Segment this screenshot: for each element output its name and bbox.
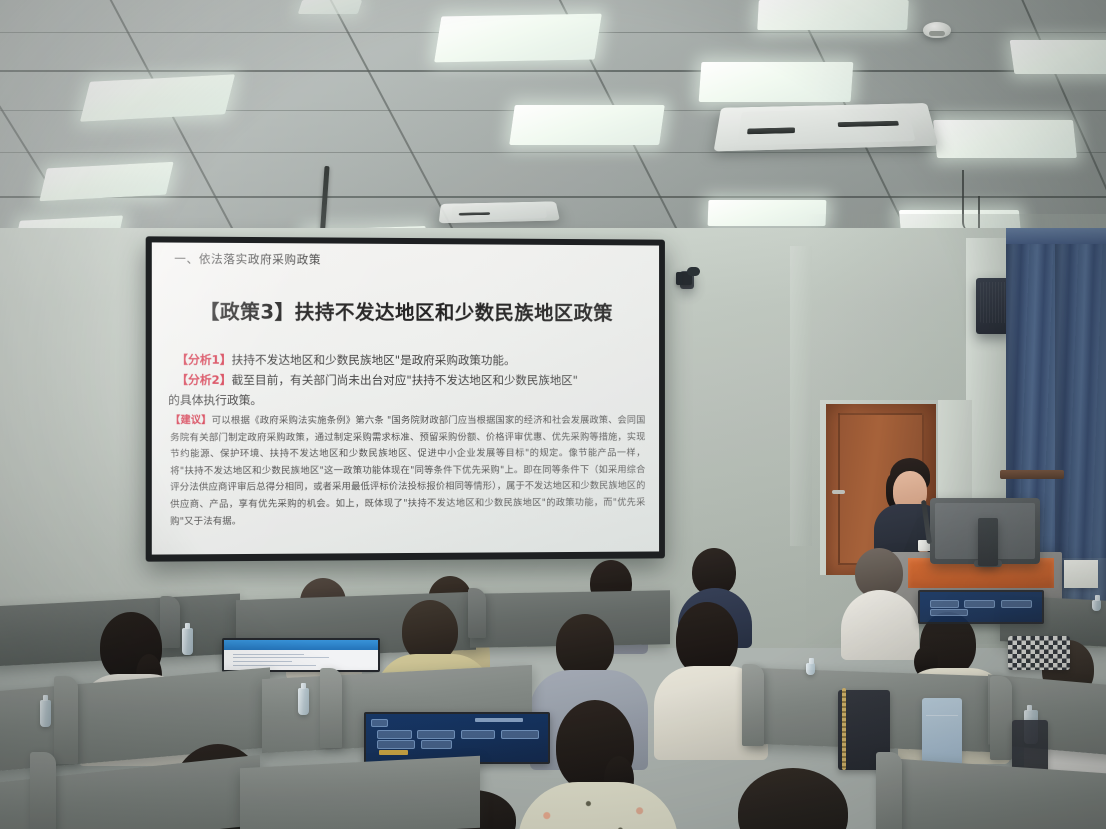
attendee-torso <box>518 782 678 829</box>
slide-kicker: 一、依法落实政府采购政策 <box>174 251 321 268</box>
window-title-bar <box>224 640 378 650</box>
desk-partition <box>742 664 764 746</box>
lectern-paper-stack <box>1064 560 1098 588</box>
water-bottle <box>40 700 51 727</box>
slide-text-analysis-1: 扶持不发达地区和少数民族地区"是政府采购政策功能。 <box>231 353 515 367</box>
desk-partition <box>990 676 1012 760</box>
desk-partition <box>320 668 342 748</box>
desk-partition <box>876 752 902 829</box>
dashboard-title-text <box>475 718 522 722</box>
desk-partition <box>54 676 78 764</box>
desk-partition <box>468 588 486 638</box>
ceiling-light-panel <box>933 120 1077 158</box>
attendee-head <box>556 614 614 678</box>
desk-partition <box>30 752 56 829</box>
workstation-screen-window <box>224 640 378 670</box>
attendee-head <box>402 600 458 662</box>
water-bottle <box>806 663 815 675</box>
wall-pillar <box>790 246 812 546</box>
workstation-screen-dashboard <box>920 592 1042 622</box>
window-sill <box>1000 470 1064 479</box>
workstation-monitor[interactable] <box>222 638 380 672</box>
slide-analysis-line-1: 【分析1】扶持不发达地区和少数民族地区"是政府采购政策功能。 <box>176 352 643 370</box>
ceiling-light-panel <box>80 74 235 121</box>
projection-screen-surface: 一、依法落实政府采购政策 【政策3】扶持不发达地区和少数民族地区政策 【分析1】… <box>152 242 659 554</box>
slide-analysis-line-3: 的具体执行政策。 <box>168 392 643 410</box>
attendee-head <box>738 768 848 829</box>
ceiling-light-panel <box>509 105 665 145</box>
smoke-detector <box>923 22 951 38</box>
slide-tag-analysis-1: 【分析1】 <box>176 353 231 367</box>
ceiling-light-panel <box>757 0 909 30</box>
ceiling-light-panel <box>434 14 602 63</box>
ceiling-light-panel <box>1010 40 1106 74</box>
desk-partition <box>160 596 180 648</box>
slide-analysis-line-2: 【分析2】截至目前，有关部门尚未出台对应"扶持不发达地区和少数民族地区" <box>176 372 643 390</box>
slide-body-paragraph: 【建议】可以根据《政府采购法实施条例》第六条 "国务院财政部门应当根据国家的经济… <box>170 412 645 530</box>
water-bottle <box>1092 600 1101 611</box>
desktop-pc-tower <box>978 518 998 566</box>
workstation-monitor[interactable] <box>918 590 1044 624</box>
door-handle[interactable] <box>832 490 845 494</box>
workstation-screen-dashboard <box>366 714 548 762</box>
slide-tag-suggestion: 【建议】 <box>170 415 211 426</box>
ceiling-light-panel <box>699 62 854 102</box>
slide-text-analysis-3: 的具体执行政策。 <box>168 393 262 407</box>
slide-text-analysis-2: 截至目前，有关部门尚未出台对应"扶持不发达地区和少数民族地区" <box>231 373 577 387</box>
handbag-chain <box>842 688 846 770</box>
water-bottle <box>182 628 193 655</box>
ceiling-cassette-air-conditioner <box>439 201 560 223</box>
ceiling-light-panel <box>39 162 173 201</box>
ceiling-cassette-air-conditioner <box>714 103 939 151</box>
attendee-torso <box>841 590 919 660</box>
projection-screen: 一、依法落实政府采购政策 【政策3】扶持不发达地区和少数民族地区政策 【分析1】… <box>146 236 665 561</box>
surveillance-camera <box>676 272 692 285</box>
water-bottle <box>298 688 309 715</box>
slide-title: 【政策3】扶持不发达地区和少数民族地区政策 <box>152 295 659 326</box>
checkered-bag <box>1008 636 1070 670</box>
slide-body-text: 可以根据《政府采购法实施条例》第六条 "国务院财政部门应当根据国家的经济和社会发… <box>170 415 645 527</box>
attendee-head <box>676 602 738 676</box>
workstation-desk <box>240 756 480 829</box>
ceiling-light-panel <box>298 0 363 14</box>
slide-tag-analysis-2: 【分析2】 <box>176 373 231 387</box>
classroom-photo: 一、依法落实政府采购政策 【政策3】扶持不发达地区和少数民族地区政策 【分析1】… <box>0 0 1106 829</box>
